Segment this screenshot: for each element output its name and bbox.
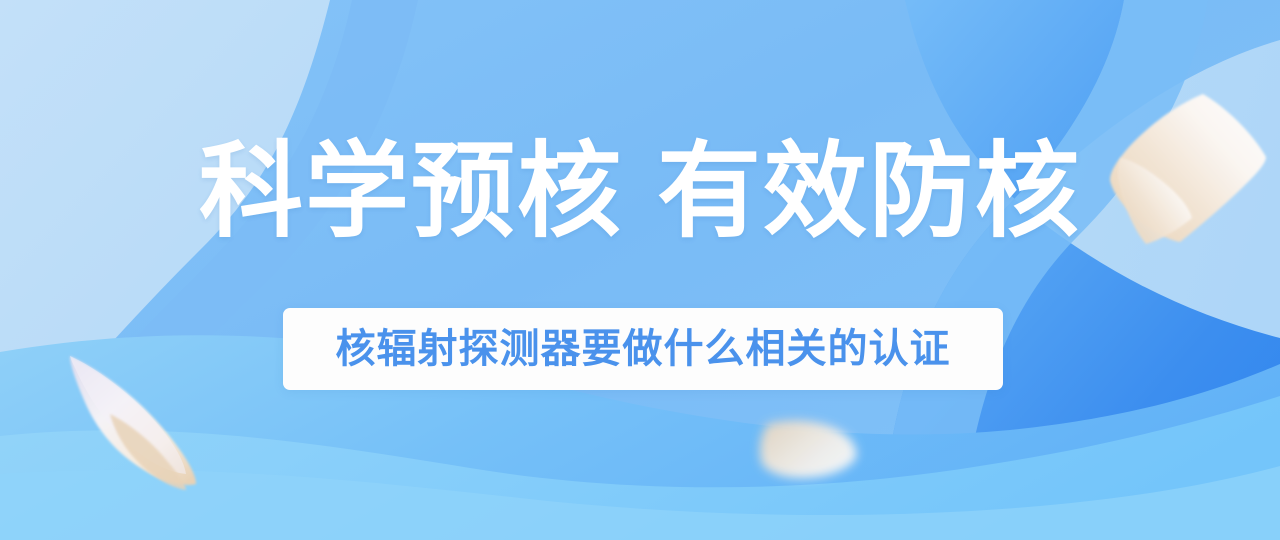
- headline-segment-2: 有效防核: [657, 134, 1081, 250]
- banner-content: 科学预核有效防核 核辐射探测器要做什么相关的认证: [0, 0, 1280, 540]
- subtitle-pill: 核辐射探测器要做什么相关的认证: [283, 308, 1003, 390]
- subtitle-text: 核辐射探测器要做什么相关的认证: [336, 326, 951, 372]
- headline-segment-1: 科学预核: [199, 134, 623, 250]
- promo-banner: 科学预核有效防核 核辐射探测器要做什么相关的认证: [0, 0, 1280, 540]
- banner-headline: 科学预核有效防核: [0, 132, 1280, 252]
